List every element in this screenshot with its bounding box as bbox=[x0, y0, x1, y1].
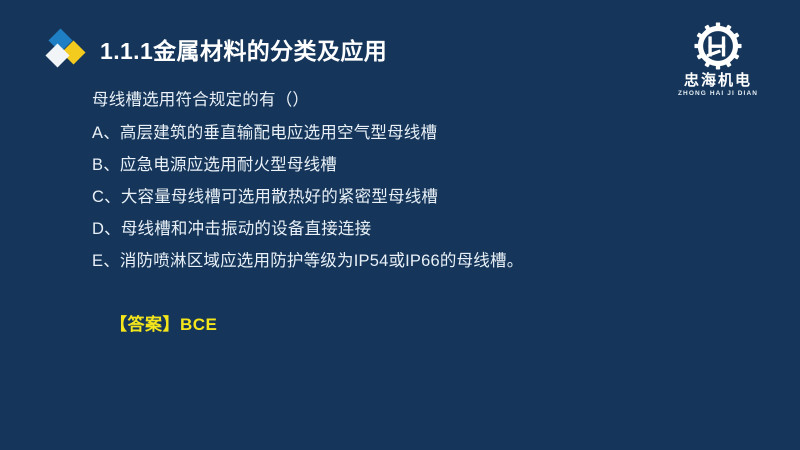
answer-text: 【答案】BCE bbox=[110, 310, 217, 335]
gear-monogram-icon bbox=[694, 22, 742, 70]
diamond-cluster-icon bbox=[44, 30, 88, 72]
question-block: 母线槽选用符合规定的有（） A、高层建筑的垂直输配电应选用空气型母线槽 B、应急… bbox=[92, 84, 752, 277]
question-stem: 母线槽选用符合规定的有（） bbox=[92, 84, 752, 116]
question-option-d: D、母线槽和冲击振动的设备直接连接 bbox=[92, 213, 752, 245]
slide-header: 1.1.1金属材料的分类及应用 bbox=[44, 28, 387, 74]
question-option-b: B、应急电源应选用耐火型母线槽 bbox=[92, 149, 752, 181]
page-title: 1.1.1金属材料的分类及应用 bbox=[100, 40, 387, 63]
question-option-c: C、大容量母线槽可选用散热好的紧密型母线槽 bbox=[92, 181, 752, 213]
question-option-a: A、高层建筑的垂直输配电应选用空气型母线槽 bbox=[92, 117, 752, 149]
question-option-e: E、消防喷淋区域应选用防护等级为IP54或IP66的母线槽。 bbox=[92, 245, 752, 277]
slide-canvas: 1.1.1金属材料的分类及应用 bbox=[0, 0, 800, 450]
